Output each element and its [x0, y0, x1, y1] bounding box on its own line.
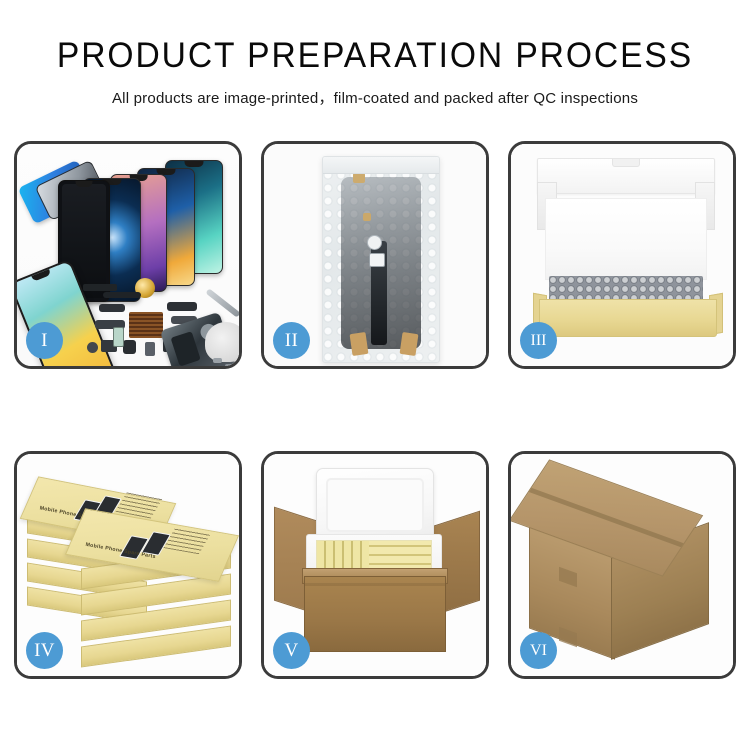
styrofoam-lid-icon: [316, 468, 434, 542]
speaker-bar-icon: [83, 284, 117, 291]
process-step-grid: I II: [14, 141, 736, 679]
wrapped-part-tab-left: [350, 332, 369, 356]
component-5-icon: [87, 342, 98, 353]
process-step-4: Mobile Phone Spare Parts Mobile Phone Sp…: [14, 451, 242, 679]
wrapped-part-dot: [367, 235, 382, 250]
inner-box-lid-icon: [537, 158, 715, 194]
bubble-wrap-bag-icon: [322, 156, 440, 363]
component-2-icon: [123, 340, 136, 354]
flex-cable-5-icon: [103, 292, 141, 298]
chip-grid-icon: [129, 312, 163, 338]
flex-cable-3-icon: [167, 302, 197, 311]
wrapped-part-tab-right: [400, 332, 419, 356]
wrapped-part-tab-mid: [363, 213, 371, 221]
step-badge-5: V: [273, 632, 310, 669]
foam-sheet-icon: [545, 198, 707, 280]
screw-2-icon: [225, 364, 234, 366]
step-badge-6: VI: [520, 632, 557, 669]
carton-body-icon: [304, 576, 446, 652]
inner-box-body-icon: [539, 299, 717, 337]
component-3-icon: [145, 342, 155, 356]
screw-1-icon: [213, 358, 222, 363]
wrapped-part-tab-top: [353, 173, 365, 183]
step-badge-1: I: [26, 322, 63, 359]
box-stack-icon: Mobile Phone Spare Parts Mobile Phone Sp…: [23, 472, 235, 662]
wrapped-part-square: [369, 253, 385, 267]
process-step-6: VI: [508, 451, 736, 679]
step-badge-3: III: [520, 322, 557, 359]
hand-icon: [205, 322, 239, 362]
page-subtitle: All products are image-printed，film-coat…: [4, 86, 747, 108]
component-6-icon: [113, 327, 124, 347]
page-title: PRODUCT PREPARATION PROCESS: [15, 38, 735, 75]
bag-seal-icon: [323, 157, 439, 174]
page-header: PRODUCT PREPARATION PROCESS All products…: [0, 0, 750, 108]
process-step-5: V: [261, 451, 489, 679]
step-badge-4: IV: [26, 632, 63, 669]
process-step-3: III: [508, 141, 736, 369]
step-badge-2: II: [273, 322, 310, 359]
process-step-1: I: [14, 141, 242, 369]
flex-cable-1-icon: [99, 304, 125, 312]
process-step-2: II: [261, 141, 489, 369]
